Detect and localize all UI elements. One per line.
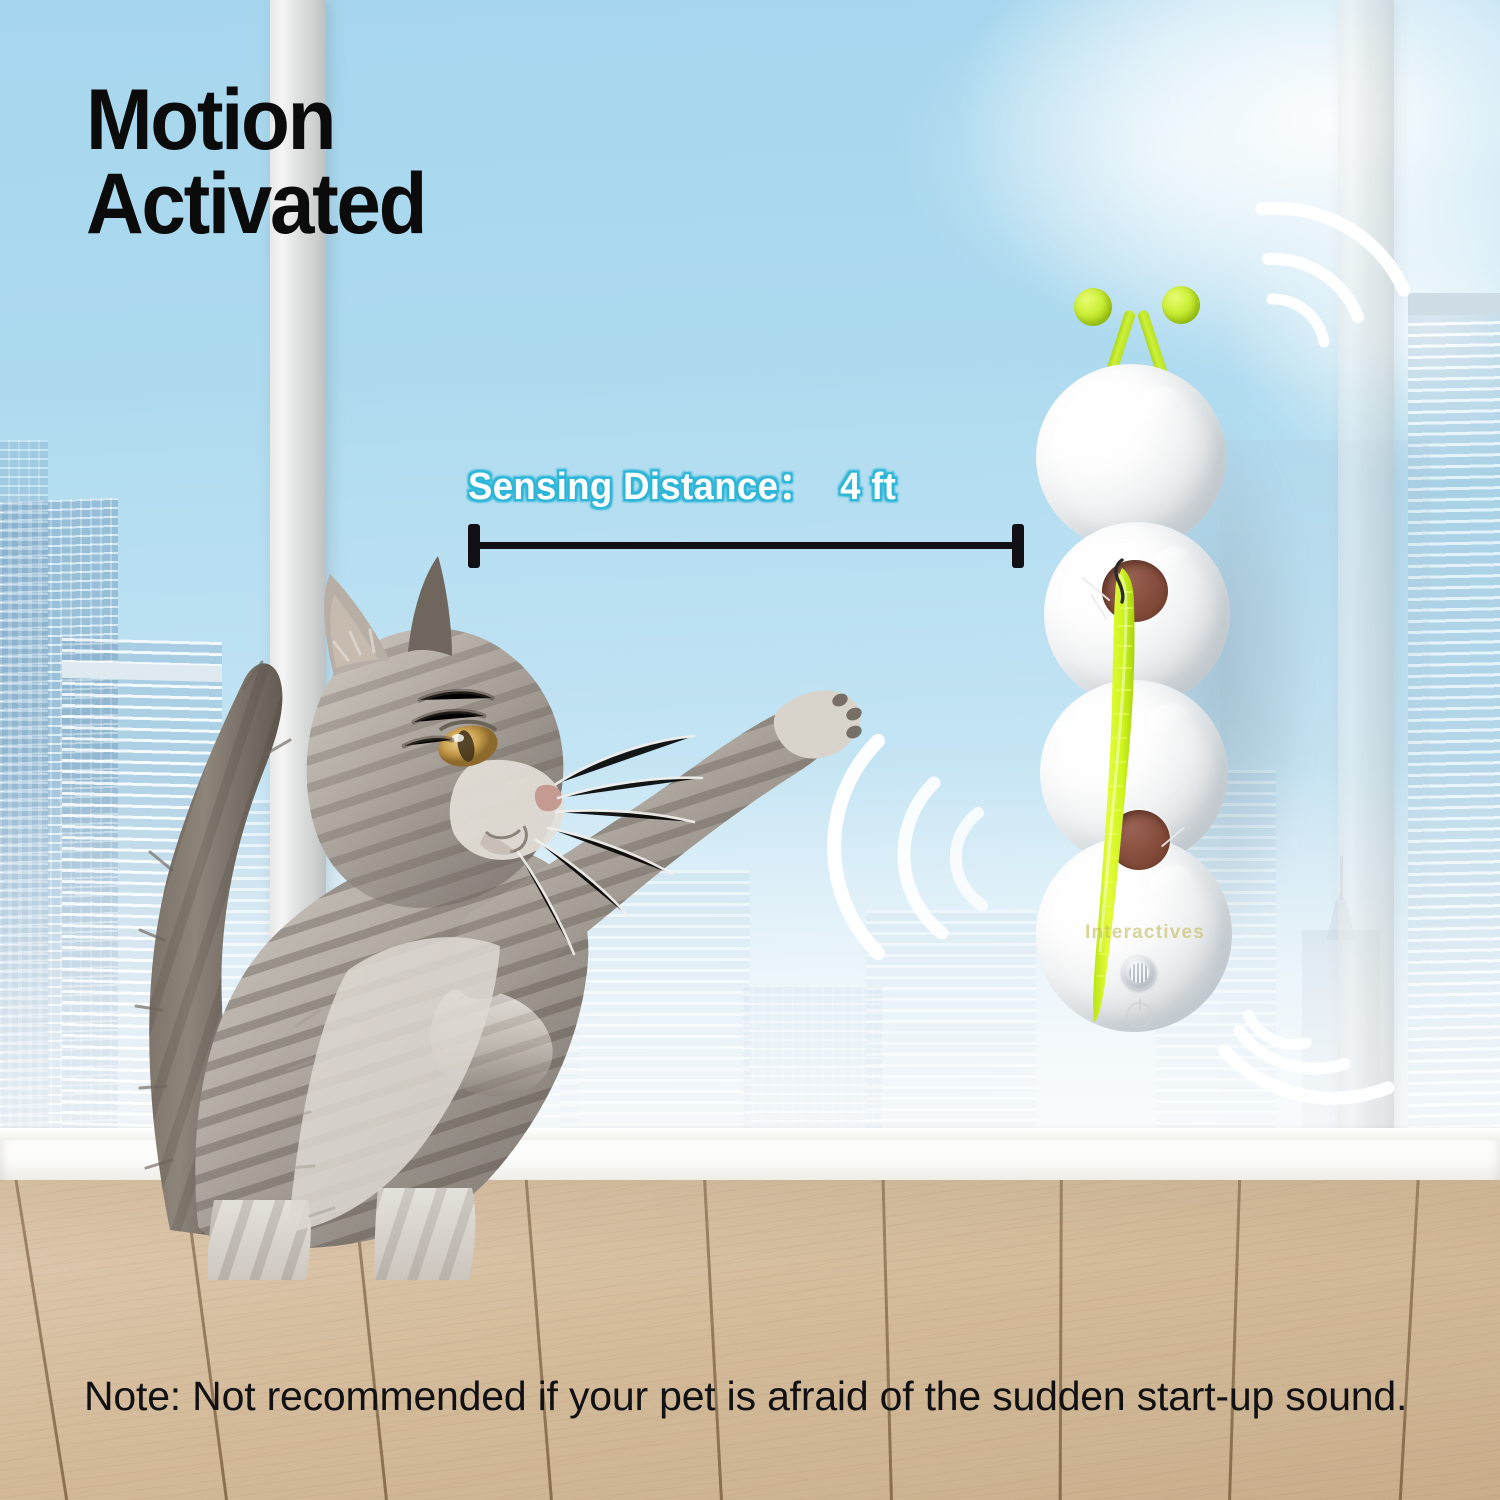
hook-icon <box>1110 558 1134 604</box>
antenna-ball-right <box>1162 286 1200 324</box>
product-lifestyle-image: Interactives Motion Activated Sensing Di… <box>0 0 1500 1500</box>
sensing-distance-label: Sensing Distance：4 ft <box>468 455 896 510</box>
antenna-ball-left <box>1074 288 1112 326</box>
pir-sensor-icon <box>1122 956 1156 990</box>
sensing-distance-text: Sensing Distance： <box>468 466 815 508</box>
caterpillar-cat-toy[interactable]: Interactives <box>1026 272 1256 1032</box>
note-text: Note: Not recommended if your pet is afr… <box>84 1370 1454 1423</box>
headline-line-2: Activated <box>86 162 425 246</box>
power-button[interactable] <box>1126 1002 1152 1028</box>
dimension-line-bar <box>472 542 1020 549</box>
cat-ear-right <box>408 556 452 656</box>
page-title: Motion Activated <box>86 78 425 247</box>
dimension-cap-right <box>1012 524 1024 568</box>
headline-line-1: Motion <box>86 78 425 162</box>
cat-paw <box>774 690 861 758</box>
device-brand-text: Interactives <box>1070 922 1220 944</box>
gray-tabby-cat <box>48 540 868 1280</box>
sensing-distance-value: 4 ft <box>840 466 896 508</box>
